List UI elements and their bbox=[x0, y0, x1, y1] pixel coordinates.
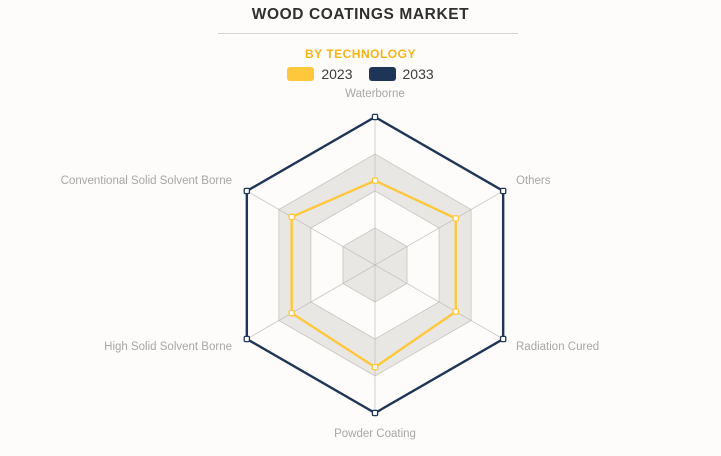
radar-point[interactable] bbox=[372, 114, 377, 119]
axis-label-powder-coating: Powder Coating bbox=[334, 428, 416, 440]
radar-point[interactable] bbox=[453, 216, 458, 221]
axis-label-waterborne: Waterborne bbox=[345, 88, 405, 100]
radar-point[interactable] bbox=[289, 214, 294, 219]
radar-point[interactable] bbox=[372, 410, 377, 415]
radar-point[interactable] bbox=[501, 336, 506, 341]
radar-point[interactable] bbox=[244, 336, 249, 341]
axis-label-conventional-solid-solvent-borne: Conventional Solid Solvent Borne bbox=[61, 175, 232, 187]
radar-point[interactable] bbox=[244, 188, 249, 193]
radar-point[interactable] bbox=[453, 309, 458, 314]
radar-point[interactable] bbox=[372, 365, 377, 370]
axis-label-others: Others bbox=[516, 175, 551, 187]
radar-point[interactable] bbox=[501, 188, 506, 193]
axis-label-high-solid-solvent-borne: High Solid Solvent Borne bbox=[104, 341, 232, 353]
chart-container: WOOD COATINGS MARKET BY TECHNOLOGY 2023 … bbox=[0, 0, 721, 456]
radar-plot bbox=[0, 0, 721, 456]
radar-point[interactable] bbox=[289, 311, 294, 316]
radar-point[interactable] bbox=[372, 178, 377, 183]
axis-label-radiation-cured: Radiation Cured bbox=[516, 341, 599, 353]
